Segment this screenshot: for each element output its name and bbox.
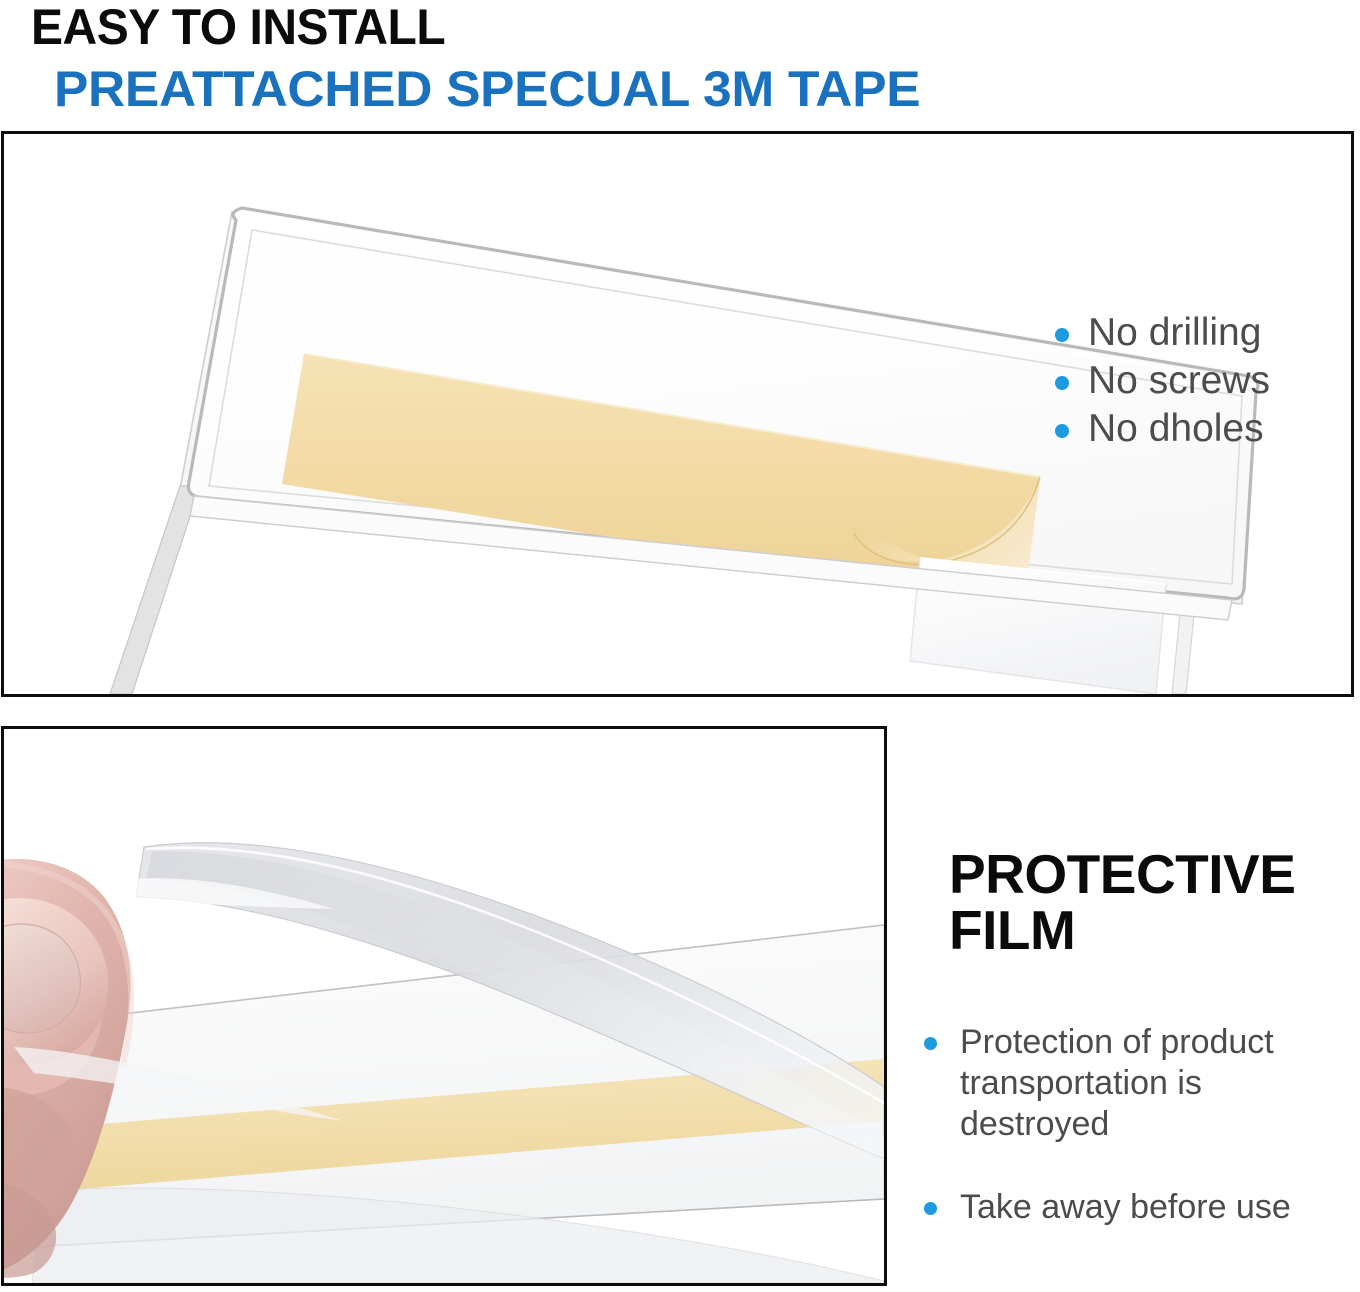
- list-item: Take away before use: [919, 1187, 1357, 1228]
- film-heading-line-1: PROTECTIVE: [949, 846, 1349, 902]
- headline-primary: EASY TO INSTALL: [31, 0, 445, 56]
- film-heading-line-2: FILM: [949, 902, 1349, 958]
- protective-film-benefits-list: Protection of product transportation is …: [919, 1022, 1357, 1228]
- bullet-dot-icon: [1055, 376, 1069, 390]
- list-item: No screws: [1049, 357, 1349, 405]
- list-item: Protection of product transportation is …: [919, 1022, 1357, 1145]
- bullet-label: Protection of product transportation is …: [960, 1023, 1274, 1143]
- headline-secondary: PREATTACHED SPECUAL 3M TAPE: [54, 60, 920, 118]
- panel-bottom-image: [4, 729, 884, 1283]
- panel-protective-film: [1, 726, 887, 1286]
- headline-block: EASY TO INSTALL PREATTACHED SPECUAL 3M T…: [0, 0, 1360, 130]
- panel-easy-to-install: No drilling No screws No dholes: [1, 131, 1354, 697]
- bullet-dot-icon: [1055, 424, 1069, 438]
- bullet-label: No screws: [1088, 359, 1270, 402]
- bullet-label: No drilling: [1088, 311, 1261, 354]
- list-item: No dholes: [1049, 405, 1349, 453]
- bullet-label: Take away before use: [960, 1188, 1291, 1226]
- bullet-dot-icon: [924, 1037, 937, 1050]
- acrylic-stand-leg: [110, 486, 200, 694]
- install-benefits-list: No drilling No screws No dholes: [1049, 309, 1349, 453]
- bullet-label: No dholes: [1088, 407, 1264, 450]
- hand-peeling-film-illustration: [4, 729, 884, 1283]
- protective-film-heading: PROTECTIVE FILM: [949, 846, 1349, 958]
- list-item: No drilling: [1049, 309, 1349, 357]
- bullet-dot-icon: [924, 1202, 937, 1215]
- bullet-dot-icon: [1055, 328, 1069, 342]
